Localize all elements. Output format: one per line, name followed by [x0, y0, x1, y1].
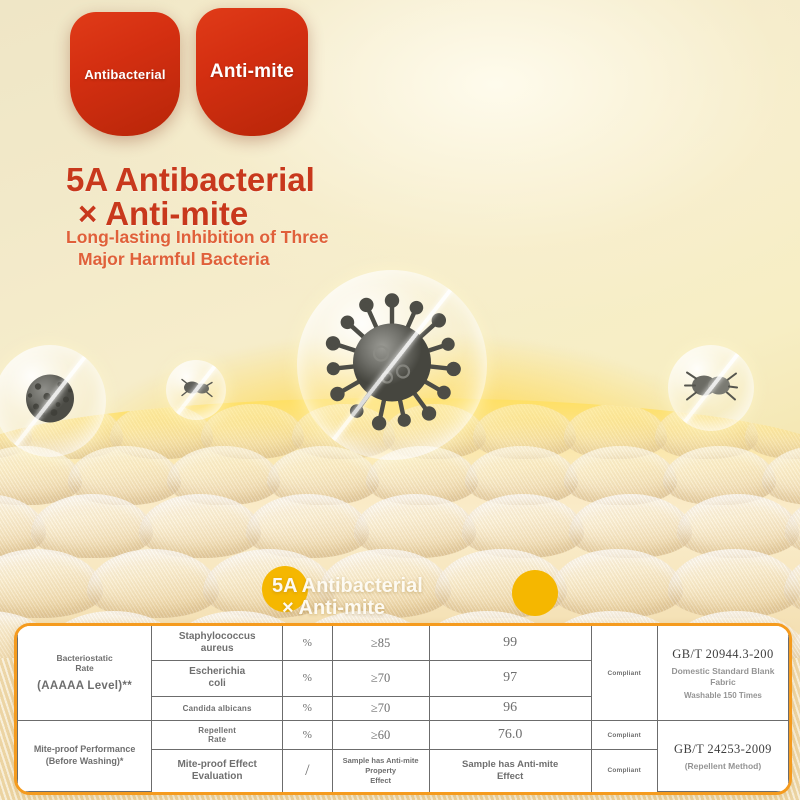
item-line2: aureus [201, 643, 234, 654]
cell-standard-candida: ≥70 [332, 696, 429, 721]
cell-item-ecoli: Escherichia coli [152, 661, 283, 696]
item-line2: coli [209, 678, 226, 689]
decorative-dot-right [512, 570, 558, 616]
cell-item-staph: Staphylococcus aureus [152, 626, 283, 661]
cell-group-label-bacteriostatic: Bacteriostatic Rate (AAAAA Level)** [18, 626, 152, 721]
bubble-virus-large [297, 270, 487, 460]
spec-table-grid: Bacteriostatic Rate (AAAAA Level)** Stap… [17, 626, 789, 792]
cell-item-candida: Candida albicans [152, 696, 283, 721]
std-line1: Sample has Anti-mite [343, 756, 419, 765]
badge-anti-mite-label: Anti-mite [210, 61, 294, 83]
page-subtitle-line2: Major Harmful Bacteria [66, 248, 328, 270]
cell-conclusion-bacteriostatic: Compliant [591, 626, 657, 721]
overlay-title: 5A Antibacterial × Anti-mite [272, 576, 423, 619]
cell-unit-mite-eval: / [283, 750, 332, 792]
bubble-mite-tiny [166, 360, 226, 420]
norm-sub2: Washable 150 Times [660, 691, 786, 701]
table-row: Bacteriostatic Rate (AAAAA Level)** Stap… [18, 626, 789, 661]
cell-norm-mite-proof: GB/T 24253-2009 (Repellent Method) [657, 721, 788, 792]
overlay-title-line2: × Anti-mite [272, 598, 423, 620]
badge-antibacterial: Antibacterial [70, 12, 180, 136]
cell-item-repellent: Repellent Rate [152, 721, 283, 750]
std-line3: Effect [370, 776, 391, 785]
poster-page: Antibacterial Anti-mite 5A Antibacterial… [0, 0, 800, 800]
page-title: 5A Antibacterial × Anti-mite [66, 163, 315, 232]
group-label-line2: Rate [75, 663, 93, 673]
group2-label-line1: Mite-proof Performance [34, 744, 136, 754]
cell-value-staph: 99 [429, 626, 591, 661]
cell-group-label-mite-proof: Mite-proof Performance (Before Washing)* [18, 721, 152, 792]
cell-value-candida: 96 [429, 696, 591, 721]
cell-unit-ecoli: % [283, 661, 332, 696]
badge-anti-mite: Anti-mite [196, 8, 308, 136]
cell-standard-mite-eval: Sample has Anti-mite Property Effect [332, 750, 429, 792]
item-line1: Escherichia [189, 666, 245, 677]
norm-sub1: (Repellent Method) [660, 761, 786, 772]
cell-standard-ecoli: ≥70 [332, 661, 429, 696]
bubble-mite-right [668, 345, 754, 431]
item-line2: Rate [208, 735, 226, 744]
item-line1: Mite-proof Effect [177, 759, 256, 770]
spec-table: Bacteriostatic Rate (AAAAA Level)** Stap… [14, 623, 792, 795]
overlay-title-line1: 5A Antibacterial [272, 575, 423, 597]
cell-standard-staph: ≥85 [332, 626, 429, 661]
item-line1: Staphylococcus [179, 631, 256, 642]
std-line2: Property [365, 766, 396, 775]
table-row: Mite-proof Performance (Before Washing)*… [18, 721, 789, 750]
page-title-line1: 5A Antibacterial [66, 163, 315, 197]
cell-norm-bacteriostatic: GB/T 20944.3-200 Domestic Standard Blank… [657, 626, 788, 721]
cell-value-ecoli: 97 [429, 661, 591, 696]
cell-value-mite-eval: Sample has Anti-mite Effect [429, 750, 591, 792]
cell-unit-candida: % [283, 696, 332, 721]
group-label-level: (AAAAA Level)** [20, 679, 149, 693]
item-line1: Repellent [198, 726, 236, 735]
val-line1: Sample has Anti-mite [462, 759, 558, 770]
val-line2: Effect [497, 771, 523, 782]
cell-unit-staph: % [283, 626, 332, 661]
cell-standard-repellent: ≥60 [332, 721, 429, 750]
cell-unit-repellent: % [283, 721, 332, 750]
norm-code: GB/T 20944.3-200 [672, 647, 773, 661]
group2-label-line2: (Before Washing)* [46, 756, 124, 766]
badge-antibacterial-label: Antibacterial [84, 67, 165, 82]
norm-sub1: Domestic Standard Blank Fabric [660, 666, 786, 688]
page-subtitle-line1: Long-lasting Inhibition of Three [66, 227, 328, 247]
page-subtitle: Long-lasting Inhibition of Three Major H… [66, 226, 328, 271]
norm-code: GB/T 24253-2009 [674, 742, 772, 756]
cell-conclusion-mite-eval: Compliant [591, 750, 657, 792]
cell-conclusion-repellent: Compliant [591, 721, 657, 750]
cell-value-repellent: 76.0 [429, 721, 591, 750]
cell-item-mite-eval: Mite-proof Effect Evaluation [152, 750, 283, 792]
group-label-line1: Bacteriostatic [56, 653, 112, 663]
item-line2: Evaluation [192, 771, 243, 782]
